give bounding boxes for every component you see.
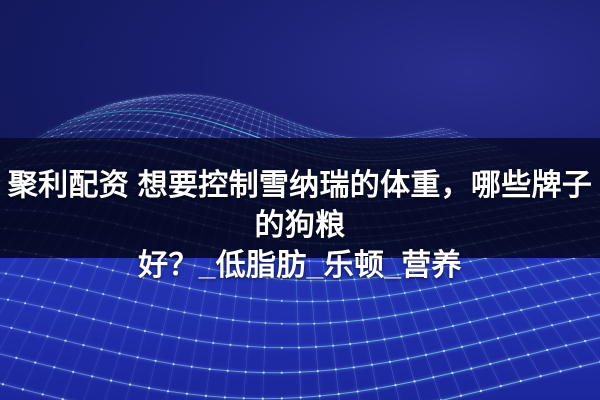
banner-canvas: 聚利配资 想要控制雪纳瑞的体重，哪些牌子的狗粮 好？_低脂肪_乐顿_营养 <box>0 0 600 400</box>
page-title: 聚利配资 想要控制雪纳瑞的体重，哪些牌子的狗粮 好？_低脂肪_乐顿_营养 <box>0 166 600 286</box>
headline-line-1: 聚利配资 想要控制雪纳瑞的体重，哪些牌子的狗粮 <box>3 166 597 246</box>
headline-line-2: 好？_低脂肪_乐顿_营养 <box>3 246 597 286</box>
